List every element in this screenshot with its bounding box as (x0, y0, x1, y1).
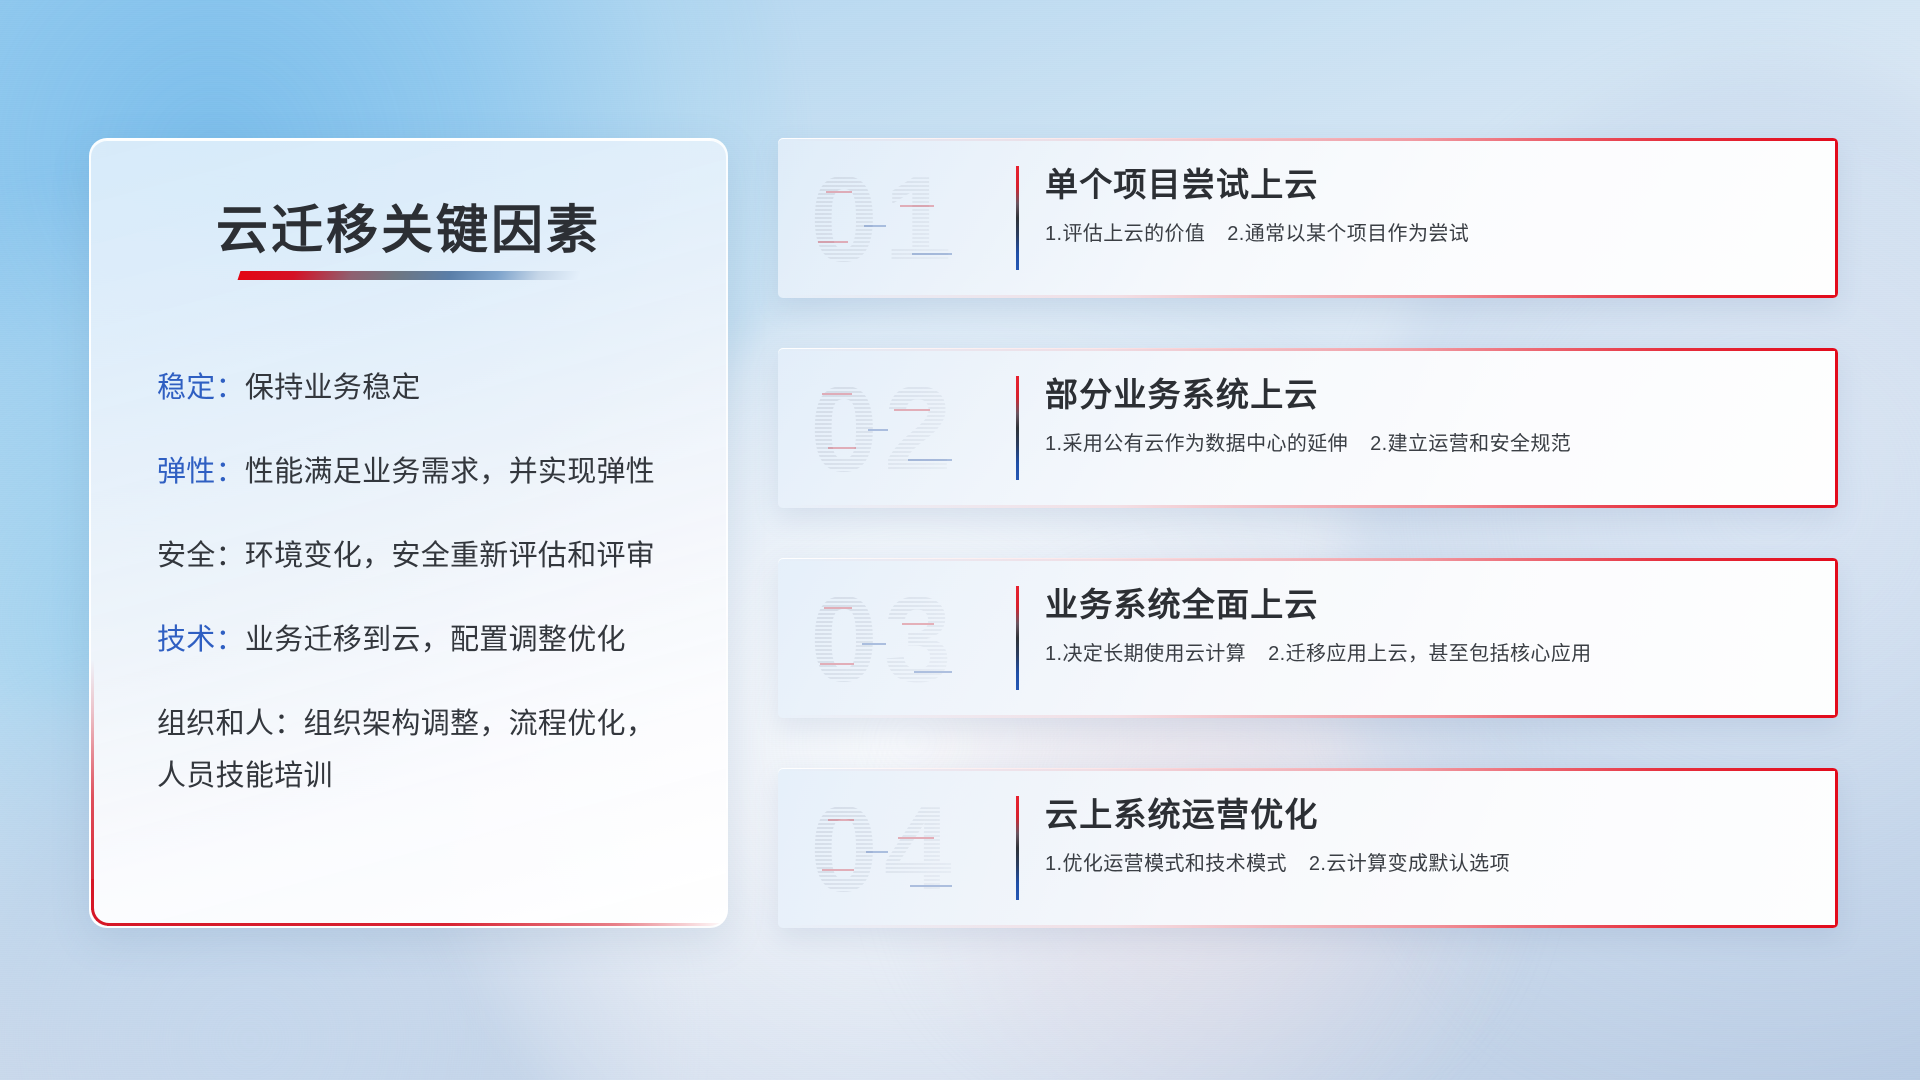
stage-card-01[interactable]: 01 单个项目尝试上云 1.评估上云的价值2.通常以某个项目作为尝试 (778, 138, 1838, 298)
card-subtitle: 1.决定长期使用云计算2.迁移应用上云，甚至包括核心应用 (1045, 641, 1814, 667)
title-underline-bar (238, 271, 581, 280)
card-accent-divider (1016, 586, 1019, 690)
card-subtitle: 1.评估上云的价值2.通常以某个项目作为尝试 (1045, 221, 1814, 247)
list-item-label: 稳定： (157, 372, 245, 404)
card-outline-right (1835, 558, 1838, 718)
list-item: 组织和人：组织架构调整，流程优化， (157, 706, 698, 743)
card-number-text: 02 (810, 363, 958, 493)
card-subtitle: 1.优化运营模式和技术模式2.云计算变成默认选项 (1045, 851, 1814, 877)
card-number-glyph-02: 02 (804, 363, 1024, 493)
card-outline-top (778, 348, 1838, 351)
card-outline-top (778, 768, 1838, 771)
card-number-glyph-03: 03 (804, 573, 1024, 703)
card-accent-divider (1016, 376, 1019, 480)
list-item: 弹性：性能满足业务需求，并实现弹性 (157, 454, 698, 491)
key-factors-panel: 云迁移关键因素 稳定：保持业务稳定 弹性：性能满足业务需求，并实现弹性 安全：环… (89, 138, 728, 928)
card-outline-right (1835, 768, 1838, 928)
card-point-1: 1.评估上云的价值 (1045, 223, 1205, 245)
list-item: 技术：业务迁移到云，配置调整优化 (157, 622, 698, 659)
panel-accent-left (91, 660, 94, 910)
card-title: 业务系统全面上云 (1045, 584, 1814, 625)
card-number-text: 01 (810, 153, 958, 283)
list-item-label: 安全： (157, 540, 245, 572)
stage-card-02[interactable]: 02 部分业务系统上云 1.采用公有云作为数据中心的延伸2.建立运营和安全规范 (778, 348, 1838, 508)
card-point-2: 2.云计算变成默认选项 (1309, 853, 1510, 875)
card-point-2: 2.通常以某个项目作为尝试 (1227, 223, 1469, 245)
card-text-block: 业务系统全面上云 1.决定长期使用云计算2.迁移应用上云，甚至包括核心应用 (1045, 584, 1814, 667)
list-item-body: 环境变化，安全重新评估和评审 (245, 540, 655, 572)
card-number-glyph-01: 01 (804, 153, 1024, 283)
list-item-continuation: 人员技能培训 (157, 758, 698, 795)
key-factors-list: 稳定：保持业务稳定 弹性：性能满足业务需求，并实现弹性 安全：环境变化，安全重新… (157, 370, 698, 795)
card-accent-divider (1016, 796, 1019, 900)
slide-canvas: 云迁移关键因素 稳定：保持业务稳定 弹性：性能满足业务需求，并实现弹性 安全：环… (0, 0, 1920, 1080)
card-outline-top (778, 558, 1838, 561)
list-item-label: 技术： (157, 624, 245, 656)
list-item-body: 人员技能培训 (157, 760, 333, 792)
card-text-block: 部分业务系统上云 1.采用公有云作为数据中心的延伸2.建立运营和安全规范 (1045, 374, 1814, 457)
card-title: 单个项目尝试上云 (1045, 164, 1814, 205)
card-outline-bottom (778, 505, 1838, 508)
card-number-glyph-04: 04 (804, 783, 1024, 913)
list-item: 安全：环境变化，安全重新评估和评审 (157, 538, 698, 575)
card-outline-right (1835, 348, 1838, 508)
list-item-label: 组织和人： (157, 708, 304, 740)
card-outline-bottom (778, 925, 1838, 928)
card-point-1: 1.优化运营模式和技术模式 (1045, 853, 1287, 875)
panel-accent-bottom (107, 923, 727, 926)
list-item-label: 弹性： (157, 456, 245, 488)
list-item-body: 性能满足业务需求，并实现弹性 (245, 456, 655, 488)
card-text-block: 单个项目尝试上云 1.评估上云的价值2.通常以某个项目作为尝试 (1045, 164, 1814, 247)
stage-cards-list: 01 单个项目尝试上云 1.评估上云的价值2.通常以某个项目作为尝试 (778, 138, 1838, 928)
card-title: 云上系统运营优化 (1045, 794, 1814, 835)
card-title: 部分业务系统上云 (1045, 374, 1814, 415)
card-point-2: 2.建立运营和安全规范 (1370, 433, 1571, 455)
card-number-text: 03 (810, 573, 958, 703)
stage-card-04[interactable]: 04 云上系统运营优化 1.优化运营模式和技术模式2.云计算变成默认选项 (778, 768, 1838, 928)
stage-card-03[interactable]: 03 业务系统全面上云 1.决定长期使用云计算2.迁移应用上云，甚至包括核心应用 (778, 558, 1838, 718)
list-item-body: 保持业务稳定 (245, 372, 421, 404)
panel-accent-corner (91, 879, 138, 926)
card-outline-bottom (778, 715, 1838, 718)
page-title: 云迁移关键因素 (91, 188, 726, 263)
list-item-body: 业务迁移到云，配置调整优化 (245, 624, 626, 656)
card-number-text: 04 (810, 783, 958, 913)
card-text-block: 云上系统运营优化 1.优化运营模式和技术模式2.云计算变成默认选项 (1045, 794, 1814, 877)
card-point-1: 1.决定长期使用云计算 (1045, 643, 1246, 665)
card-subtitle: 1.采用公有云作为数据中心的延伸2.建立运营和安全规范 (1045, 431, 1814, 457)
card-outline-top (778, 138, 1838, 141)
card-outline-bottom (778, 295, 1838, 298)
card-outline-right (1835, 138, 1838, 298)
card-point-1: 1.采用公有云作为数据中心的延伸 (1045, 433, 1348, 455)
list-item: 稳定：保持业务稳定 (157, 370, 698, 407)
card-accent-divider (1016, 166, 1019, 270)
list-item-body: 组织架构调整，流程优化， (304, 708, 656, 740)
card-point-2: 2.迁移应用上云，甚至包括核心应用 (1268, 643, 1591, 665)
